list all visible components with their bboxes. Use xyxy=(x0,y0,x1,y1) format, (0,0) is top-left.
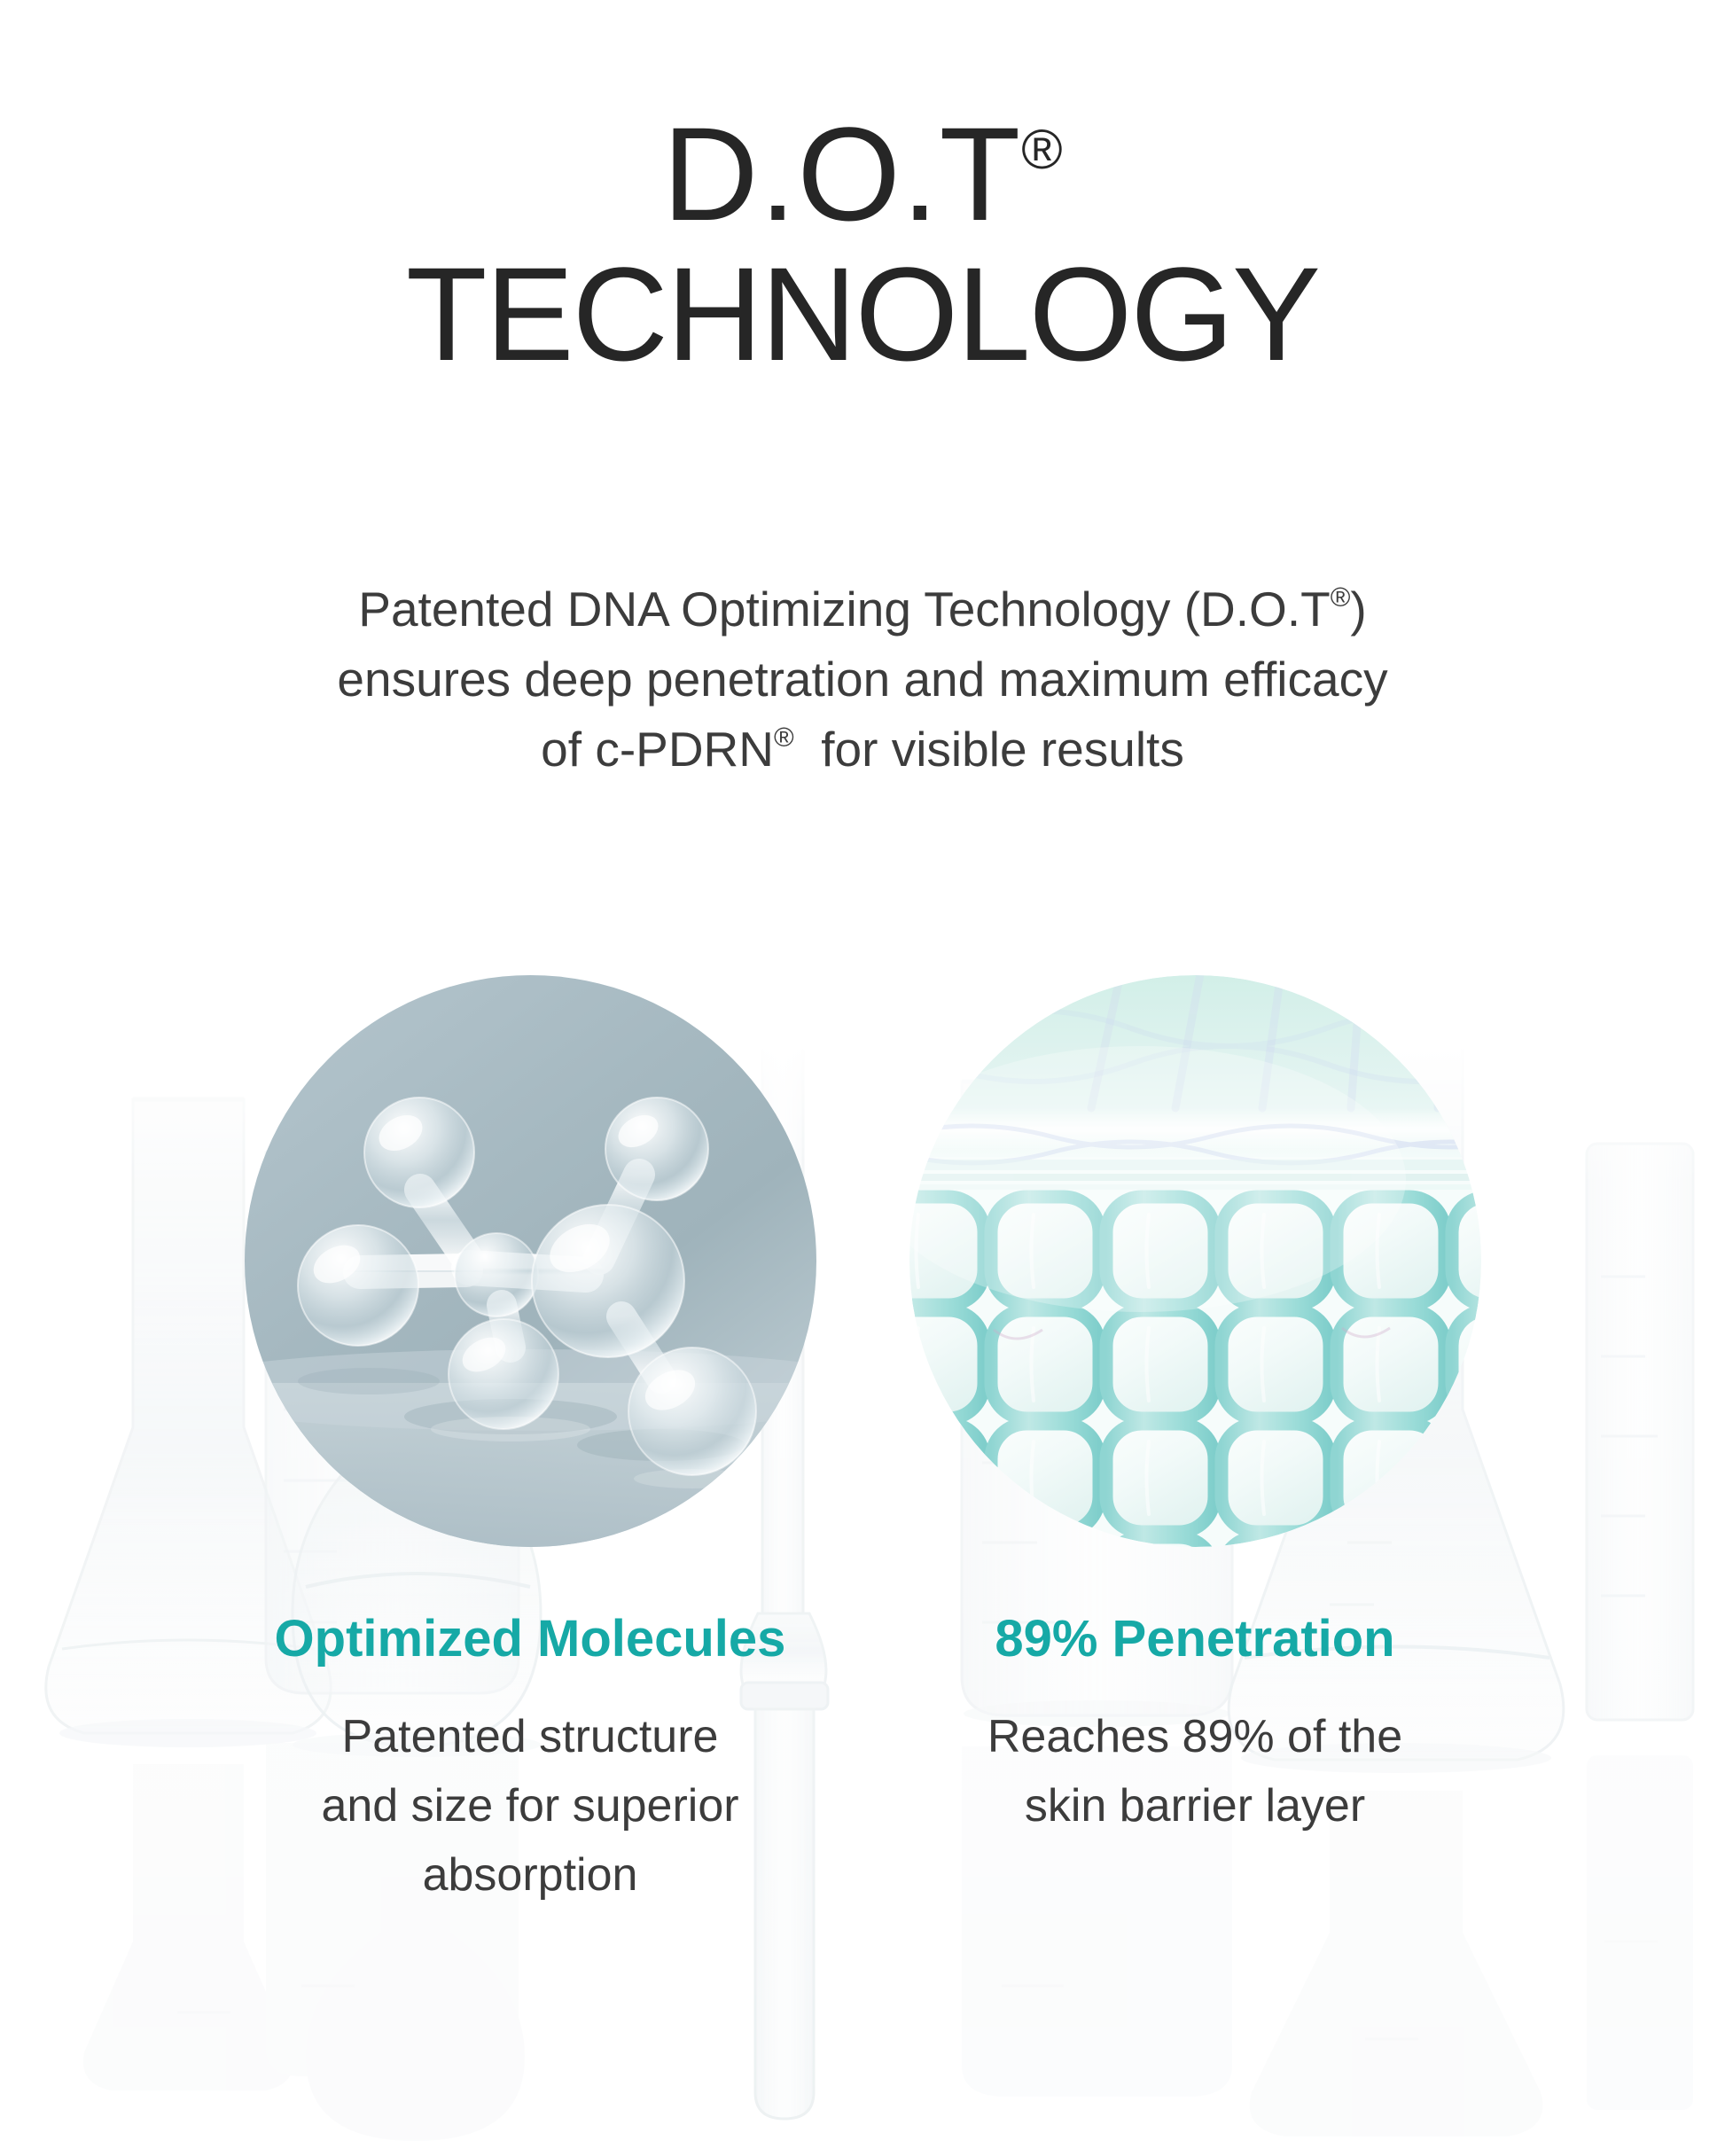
feature-card-optimized-molecules: Optimized Molecules Patented structure a… xyxy=(238,975,823,1910)
subtitle-line-2: ensures deep penetration and maximum eff… xyxy=(0,644,1725,715)
subtitle-line-1-text-a: Patented DNA Optimizing Technology (D.O.… xyxy=(358,582,1330,637)
subtitle-line-1: Patented DNA Optimizing Technology (D.O.… xyxy=(0,574,1725,644)
feature-card-penetration: 89% Penetration Reaches 89% of the skin … xyxy=(902,975,1487,1840)
skin-barrier-grid-illustration xyxy=(909,975,1481,1547)
feature-columns: Optimized Molecules Patented structure a… xyxy=(0,975,1725,1910)
subtitle-line-3-text-b: for visible results xyxy=(794,722,1184,777)
dot-technology-page: D.O.T® TECHNOLOGY Patented DNA Optimizin… xyxy=(0,0,1725,2156)
subtitle-line-3: of c-PDRN® for visible results xyxy=(0,715,1725,785)
subtitle-line-3-text-a: of c-PDRN xyxy=(541,722,774,777)
title-line-secondary: TECHNOLOGY xyxy=(0,245,1725,383)
title-line-primary-text: D.O.T xyxy=(662,99,1021,248)
registered-trademark-icon: ® xyxy=(1331,582,1351,613)
registered-trademark-icon: ® xyxy=(774,722,794,753)
feature-description: Reaches 89% of the skin barrier layer xyxy=(987,1702,1402,1840)
subtitle-paragraph: Patented DNA Optimizing Technology (D.O.… xyxy=(0,574,1725,785)
page-title: D.O.T® TECHNOLOGY xyxy=(0,105,1725,383)
registered-trademark-icon: ® xyxy=(1021,119,1062,181)
feature-title: 89% Penetration xyxy=(995,1611,1394,1668)
feature-title: Optimized Molecules xyxy=(275,1611,786,1668)
molecule-illustration xyxy=(245,975,816,1547)
subtitle-line-1-text-b: ) xyxy=(1350,582,1366,637)
title-line-primary: D.O.T® xyxy=(0,105,1725,243)
feature-description: Patented structure and size for superior… xyxy=(321,1702,738,1910)
